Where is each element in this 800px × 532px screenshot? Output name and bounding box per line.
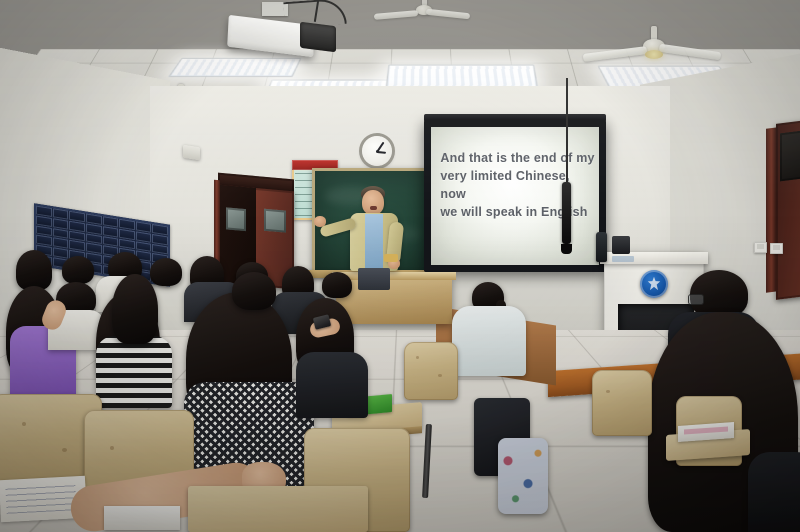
chair-back-center[interactable] — [404, 342, 458, 400]
lecturer-trousers — [358, 268, 390, 290]
slide-line-3: we will speak in English — [440, 204, 597, 222]
student-head-back-7 — [16, 250, 52, 290]
student-right-edge-shoulder — [748, 452, 800, 532]
ceiling-light-5 — [168, 58, 302, 77]
lecturer-mouth — [370, 206, 377, 210]
student-head-back-2 — [150, 258, 182, 286]
chair-back-right[interactable] — [592, 370, 652, 436]
hanging-microphone[interactable] — [562, 182, 571, 244]
paper-writing-lines — [5, 484, 76, 514]
front-desk-surface[interactable] — [188, 486, 368, 532]
light-switch-1[interactable] — [754, 242, 767, 253]
lecturer-head — [362, 190, 384, 215]
water-bottle[interactable] — [596, 232, 607, 262]
student-head-back-8 — [62, 256, 94, 284]
wall-speaker — [183, 145, 200, 161]
slide-text: And that is the end of my very limited C… — [440, 150, 597, 221]
ceiling-fan-3 — [390, 0, 460, 20]
ceiling-fan-2 — [607, 26, 703, 64]
microphone-tip — [561, 244, 572, 254]
student-head-back-6 — [322, 272, 352, 298]
wall-clock — [362, 136, 392, 166]
student-mid-row-hair-2 — [232, 272, 276, 310]
lectern-label-plate — [612, 256, 634, 262]
classroom-photo: And that is the end of my very limited C… — [0, 0, 800, 532]
right-door[interactable] — [776, 120, 800, 300]
student-left-mid-hair — [112, 274, 158, 344]
lectern-monitor — [612, 236, 630, 254]
lecturer-shirt — [365, 214, 383, 270]
slide-line-1: And that is the end of my — [440, 150, 597, 168]
lecturer-held-item — [384, 254, 398, 262]
student-glasses-icon — [688, 294, 704, 305]
light-switch-2[interactable] — [770, 243, 783, 254]
projection-screen: And that is the end of my very limited C… — [424, 120, 606, 272]
university-emblem-icon — [640, 270, 668, 298]
student-white-tee-torso — [452, 306, 526, 376]
student-mid-row-top-1 — [296, 352, 368, 418]
ceiling-projector — [228, 14, 340, 54]
floral-tote-bag[interactable] — [498, 438, 548, 514]
lecturer-left-hand — [314, 216, 326, 227]
student-striped-top — [96, 336, 172, 408]
microphone-wire — [566, 78, 568, 188]
front-white-book[interactable] — [104, 506, 180, 530]
slide-line-2: very limited Chinese, now — [440, 168, 597, 204]
